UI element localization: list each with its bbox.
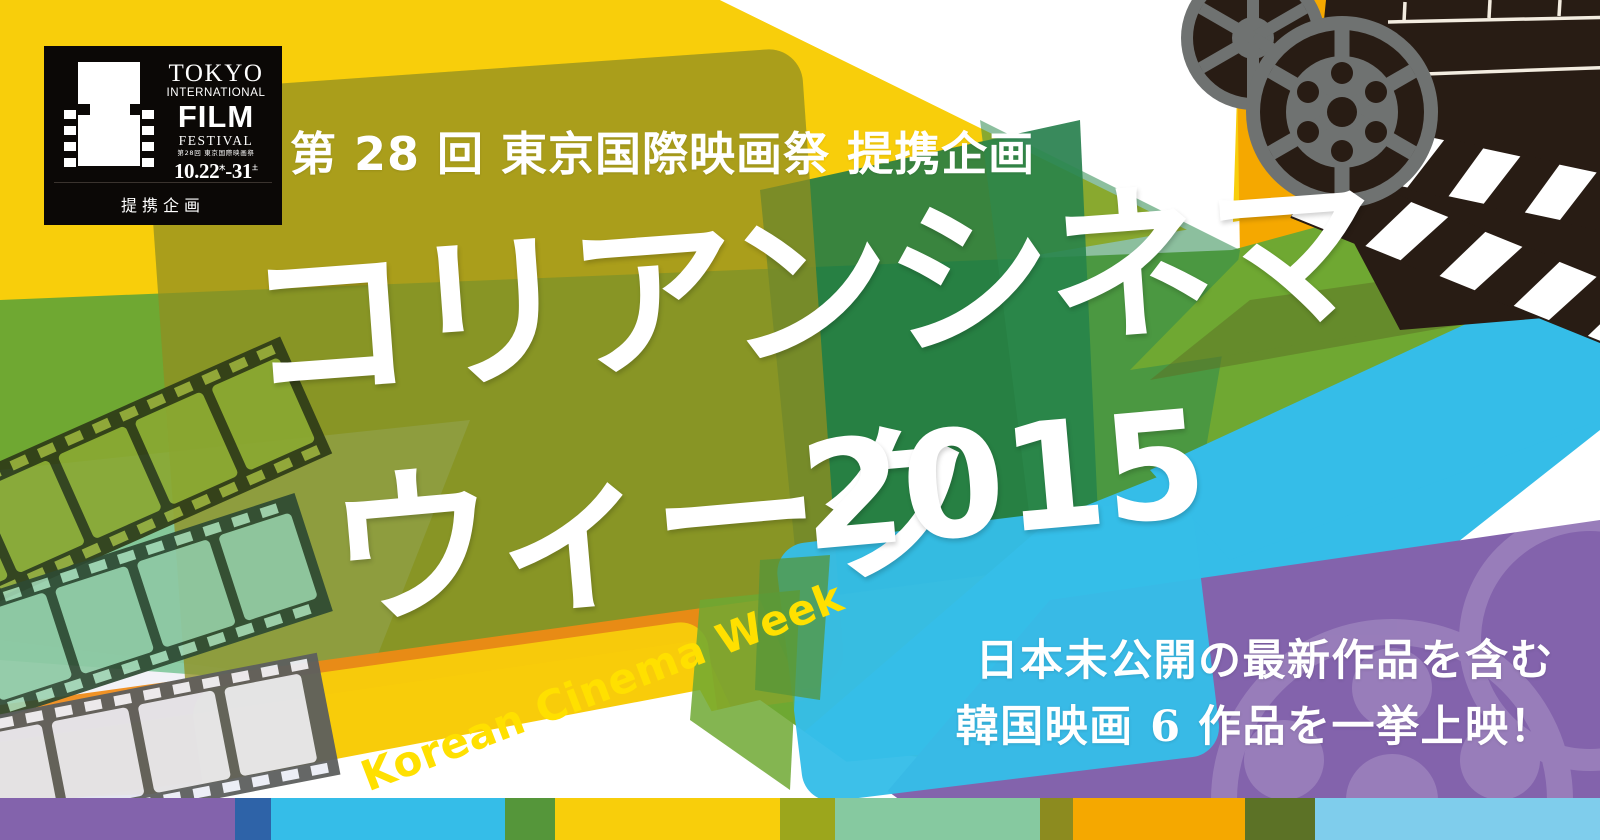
tiff-date-start: 10.22 xyxy=(174,159,219,183)
tiff-film-mark-icon xyxy=(64,62,154,166)
color-bar-segment xyxy=(1245,798,1315,840)
tiff-word-film: FILM xyxy=(160,100,272,133)
tiff-word-tokyo: TOKYO xyxy=(160,60,272,87)
color-bar-segment xyxy=(235,798,271,840)
color-bar-segment xyxy=(0,798,235,840)
tiff-date: 10.22木-31土 xyxy=(160,158,272,182)
tiff-wordmark: TOKYO INTERNATIONAL FILM FESTIVAL 第28回 東… xyxy=(160,60,272,172)
tagline-line-1: 日本未公開の最新作品を含む xyxy=(956,628,1554,694)
main-title-year: 2015 xyxy=(794,378,1211,585)
tiff-word-festival: FESTIVAL xyxy=(160,133,272,149)
tagline-line-2: 韓国映画 6 作品を一挙上映！ xyxy=(956,694,1554,760)
color-bar-segment xyxy=(555,798,780,840)
tiff-logo-divider xyxy=(54,182,272,183)
color-bar-segment xyxy=(1073,798,1245,840)
color-bar-segment xyxy=(1315,798,1600,840)
color-bar-segment xyxy=(271,798,505,840)
poster-canvas: TOKYO INTERNATIONAL FILM FESTIVAL 第28回 東… xyxy=(0,0,1600,840)
color-bar-segment xyxy=(780,798,835,840)
tiff-word-jp-edition: 第28回 東京国際映画祭 xyxy=(160,149,272,158)
color-bar-segment xyxy=(505,798,555,840)
tiff-date-ruby-end: 土 xyxy=(252,166,258,172)
color-bar xyxy=(0,798,1600,840)
color-bar-segment xyxy=(1040,798,1073,840)
tiff-date-end: -31 xyxy=(225,159,252,183)
tagline: 日本未公開の最新作品を含む 韓国映画 6 作品を一挙上映！ xyxy=(956,628,1554,760)
tiff-logo-main: TOKYO INTERNATIONAL FILM FESTIVAL 第28回 東… xyxy=(44,46,282,181)
color-bar-segment xyxy=(835,798,1040,840)
